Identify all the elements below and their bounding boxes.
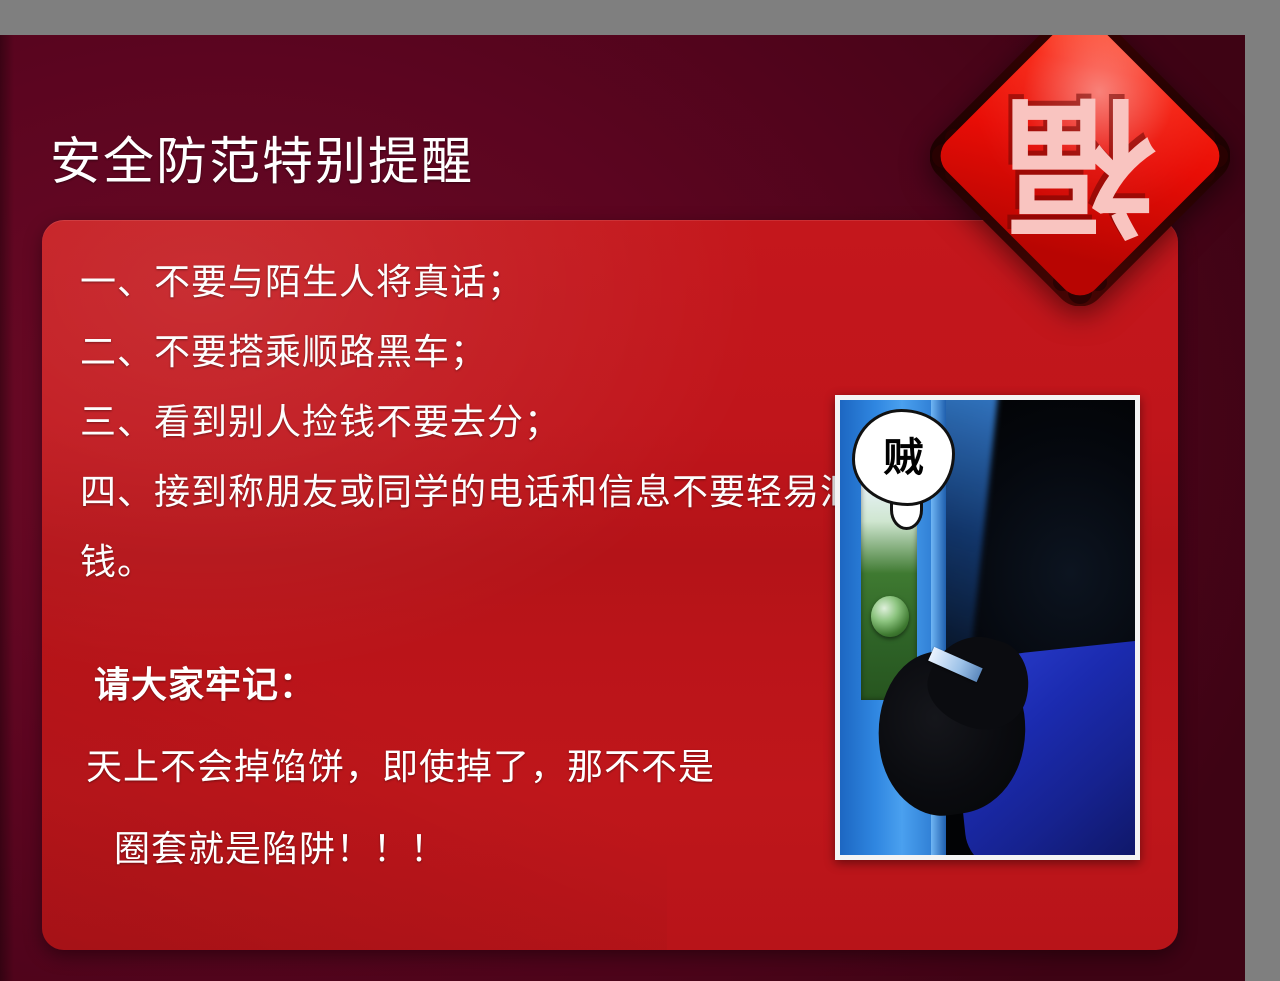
burglar-photo: 贼 xyxy=(835,395,1140,860)
top-margin xyxy=(0,0,1280,35)
remember-saying-line-1: 天上不会掉馅饼，即使掉了，那不不是 xyxy=(80,727,870,809)
burglar-photo-image: 贼 xyxy=(840,400,1135,855)
slide-canvas: 安全防范特别提醒 一、不要与陌生人将真话； 二、不要搭乘顺路黑车； 三、看到别人… xyxy=(0,0,1280,981)
warning-list: 一、不要与陌生人将真话； 二、不要搭乘顺路黑车； 三、看到别人捡钱不要去分； 四… xyxy=(80,248,870,598)
remember-block: 请大家牢记： 天上不会掉馅饼，即使掉了，那不不是 圈套就是陷阱！！！ xyxy=(80,645,870,891)
fu-diamond-plaque-icon: 福 福 xyxy=(930,6,1230,306)
list-item: 三、看到别人捡钱不要去分； xyxy=(80,388,870,458)
right-margin xyxy=(1245,0,1280,981)
photo-door-knob xyxy=(871,596,909,637)
remember-saying-line-2: 圈套就是陷阱！！！ xyxy=(80,809,870,891)
svg-text:福: 福 xyxy=(1005,77,1156,251)
list-item: 一、不要与陌生人将真话； xyxy=(80,248,870,318)
remember-lead: 请大家牢记： xyxy=(80,645,870,727)
fu-plaque-svg: 福 福 xyxy=(930,6,1230,306)
speech-bubble: 贼 xyxy=(852,409,955,506)
list-item: 二、不要搭乘顺路黑车； xyxy=(80,318,870,388)
page-title: 安全防范特别提醒 xyxy=(50,133,474,193)
list-item: 四、接到称朋友或同学的电话和信息不要轻易汇钱。 xyxy=(80,458,870,598)
